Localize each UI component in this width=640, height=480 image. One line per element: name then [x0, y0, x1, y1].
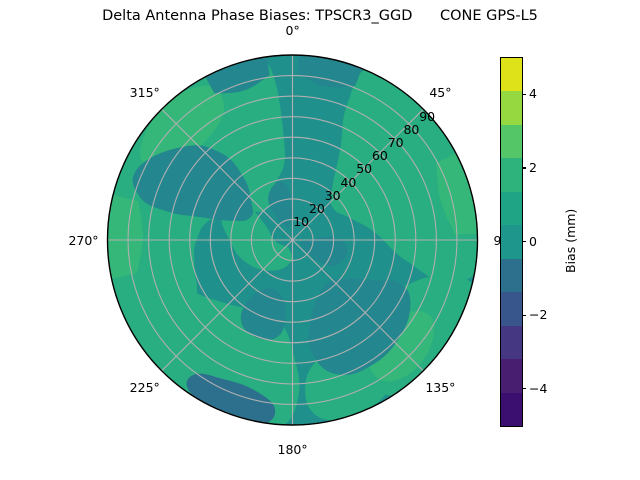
radial-label-30: 30 — [325, 188, 341, 203]
colorbar-band-4 — [501, 192, 522, 225]
colorbar-band-10 — [501, 393, 522, 426]
colorbar-tick-label-2: 0 — [529, 234, 537, 249]
angle-label-135: 135° — [425, 380, 455, 395]
colorbar-tick-label-1: 2 — [529, 160, 537, 175]
radial-label-70: 70 — [388, 135, 404, 150]
colorbar-band-5 — [501, 225, 522, 258]
colorbar-band-8 — [501, 326, 522, 359]
angle-label-270: 270° — [68, 233, 98, 248]
radial-label-90: 90 — [419, 109, 435, 124]
radial-label-50: 50 — [356, 161, 372, 176]
colorbar-band-9 — [501, 359, 522, 392]
colorbar-band-7 — [501, 292, 522, 325]
colorbar-tick-label-3: −2 — [529, 307, 547, 322]
colorbar-tick-0 — [522, 94, 526, 95]
angle-label-180: 180° — [278, 442, 308, 457]
colorbar-band-3 — [501, 158, 522, 191]
angle-label-225: 225° — [130, 380, 160, 395]
colorbar-tick-3 — [522, 315, 526, 316]
radial-label-20: 20 — [309, 201, 325, 216]
figure-canvas: Delta Antenna Phase Biases: TPSCR3_GGD C… — [0, 0, 640, 480]
radial-label-80: 80 — [403, 122, 419, 137]
colorbar-tick-2 — [522, 241, 526, 242]
radial-label-40: 40 — [340, 175, 356, 190]
colorbar-band-2 — [501, 125, 522, 158]
colorbar-band-6 — [501, 259, 522, 292]
angle-label-0: 0° — [286, 23, 300, 38]
colorbar-band-1 — [501, 91, 522, 124]
angle-label-45: 45° — [429, 85, 451, 100]
colorbar-tick-label-4: −4 — [529, 381, 547, 396]
colorbar-tick-label-0: 4 — [529, 86, 537, 101]
colorbar-tick-1 — [522, 167, 526, 168]
colorbar-band-0 — [501, 58, 522, 91]
angle-label-315: 315° — [130, 85, 160, 100]
radial-label-60: 60 — [372, 148, 388, 163]
colorbar-axis-label: Bias (mm) — [563, 209, 578, 273]
colorbar-tick-4 — [522, 388, 526, 389]
polar-plot: 0°45°90135°180°225°270°315° 102030405060… — [0, 0, 640, 480]
radial-label-10: 10 — [293, 214, 309, 229]
colorbar — [500, 57, 523, 427]
